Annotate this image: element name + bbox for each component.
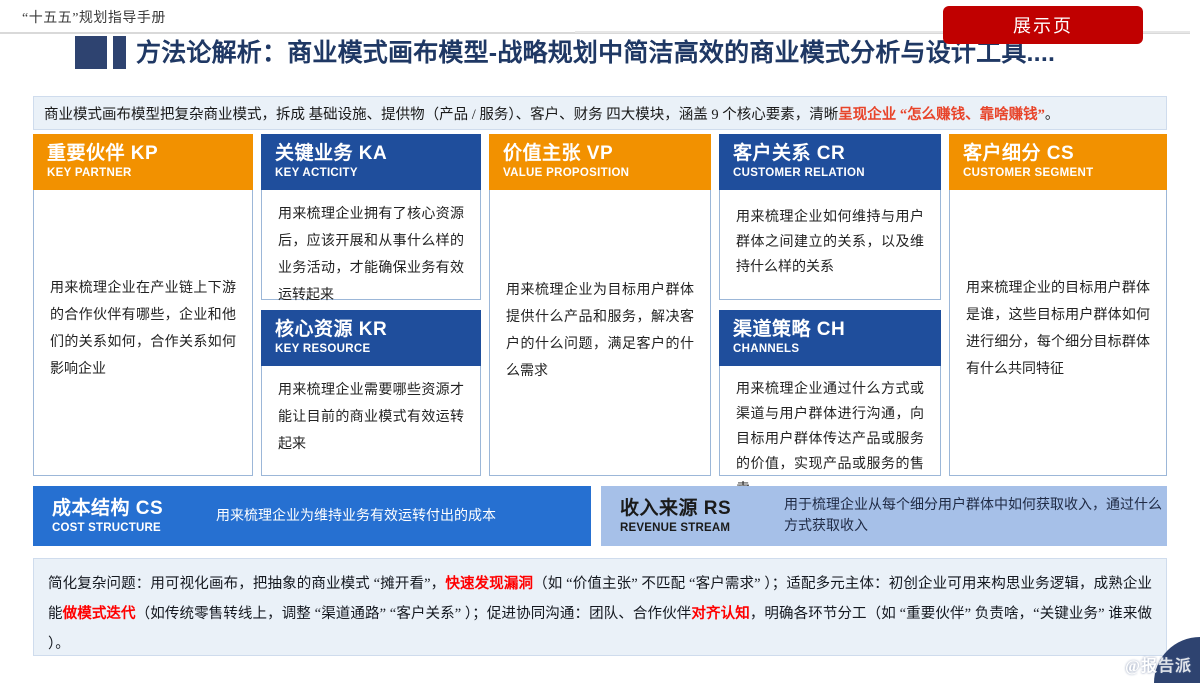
canvas-bar-revenue-stream[interactable]: 收入来源 RS REVENUE STREAM 用于梳理企业从每个细分用户群体中如… (601, 486, 1167, 546)
canvas-block-ka-body: 用来梳理企业拥有了核心资源后，应该开展和从事什么样的业务活动，才能确保业务有效运… (262, 201, 480, 309)
canvas-column-ka-kr: 关键业务 KA KEY ACTICITY 用来梳理企业拥有了核心资源后，应该开展… (261, 134, 481, 476)
summary-note-highlight-1: 快速发现漏洞 (445, 576, 533, 592)
canvas-bar-cost-structure-title: 成本结构 CS (52, 497, 202, 521)
canvas-block-ka-title: 关键业务 KA (275, 142, 481, 166)
canvas-block-ch-header: 渠道策略 CH CHANNELS (719, 310, 941, 366)
canvas-block-kr-body: 用来梳理企业需要哪些资源才能让目前的商业模式有效运转起来 (262, 377, 480, 458)
canvas-block-vp-header: 价值主张 VP VALUE PROPOSITION (489, 134, 711, 190)
canvas-block-kp-body: 用来梳理企业在产业链上下游的合作伙伴有哪些，企业和他们的关系如何，合作关系如何影… (34, 275, 252, 383)
canvas-block-cs-title: 客户细分 CS (963, 142, 1167, 166)
canvas-block-cs[interactable]: 客户细分 CS CUSTOMER SEGMENT 用来梳理企业的目标用户群体是谁… (949, 134, 1167, 476)
canvas-block-cr[interactable]: 客户关系 CR CUSTOMER RELATION 用来梳理企业如何维持与用户群… (719, 134, 941, 300)
canvas-bar-cost-structure-label: 成本结构 CS COST STRUCTURE (33, 497, 202, 536)
canvas-block-ch-body: 用来梳理企业通过什么方式或渠道与用户群体进行沟通，向目标用户群体传达产品或服务的… (720, 377, 940, 502)
title-marker-wide-icon (75, 36, 107, 69)
canvas-block-kr[interactable]: 核心资源 KR KEY RESOURCE 用来梳理企业需要哪些资源才能让目前的商… (261, 310, 481, 476)
canvas-column-kp: 重要伙伴 KP KEY PARTNER 用来梳理企业在产业链上下游的合作伙伴有哪… (33, 134, 253, 476)
canvas-block-cs-header: 客户细分 CS CUSTOMER SEGMENT (949, 134, 1167, 190)
intro-highlight: 呈现企业 “怎么赚钱、靠啥赚钱” (838, 103, 1045, 124)
summary-note-seg-1: 简化复杂问题：用可视化画布，把抽象的商业模式 “摊开看”， (48, 576, 445, 592)
canvas-block-kp-title: 重要伙伴 KP (47, 142, 253, 166)
summary-note: 简化复杂问题：用可视化画布，把抽象的商业模式 “摊开看”，快速发现漏洞（如 “价… (33, 558, 1167, 656)
canvas-block-cs-body: 用来梳理企业的目标用户群体是谁，这些目标用户群体如何进行细分，每个细分目标群体有… (950, 275, 1166, 383)
canvas-block-kr-subtitle: KEY RESOURCE (275, 342, 481, 357)
status-badge: 展示页 (943, 6, 1143, 44)
canvas-block-kr-header: 核心资源 KR KEY RESOURCE (261, 310, 481, 366)
canvas-block-kp-subtitle: KEY PARTNER (47, 166, 253, 181)
canvas-block-cs-subtitle: CUSTOMER SEGMENT (963, 166, 1167, 181)
canvas-block-ch-title: 渠道策略 CH (733, 318, 941, 342)
canvas-block-ka[interactable]: 关键业务 KA KEY ACTICITY 用来梳理企业拥有了核心资源后，应该开展… (261, 134, 481, 300)
canvas-block-cr-subtitle: CUSTOMER RELATION (733, 166, 941, 181)
summary-note-seg-3: （如传统零售转线上，调整 “渠道通路” “客户关系” ）；促进协同沟通：团队、合… (136, 606, 692, 622)
canvas-block-vp-title: 价值主张 VP (503, 142, 711, 166)
title-marker-narrow-icon (113, 36, 126, 69)
canvas-block-ka-header: 关键业务 KA KEY ACTICITY (261, 134, 481, 190)
canvas-bar-revenue-stream-title: 收入来源 RS (620, 497, 770, 521)
page-title: 方法论解析：商业模式画布模型-战略规划中简洁高效的商业模式分析与设计工具.... (136, 36, 1055, 70)
canvas-bar-cost-structure-subtitle: COST STRUCTURE (52, 521, 202, 536)
canvas-block-kp-header: 重要伙伴 KP KEY PARTNER (33, 134, 253, 190)
canvas-bar-revenue-stream-label: 收入来源 RS REVENUE STREAM (601, 497, 770, 536)
canvas-block-vp-subtitle: VALUE PROPOSITION (503, 166, 711, 181)
canvas-bottom-bars: 成本结构 CS COST STRUCTURE 用来梳理企业为维持业务有效运转付出… (33, 486, 1167, 546)
canvas-block-vp-body: 用来梳理企业为目标用户群体提供什么产品和服务，解决客户的什么问题，满足客户的什么… (490, 277, 710, 385)
summary-note-highlight-2: 做模式迭代 (63, 606, 136, 622)
canvas-block-ka-subtitle: KEY ACTICITY (275, 166, 481, 181)
watermark-label: @报告派 (1125, 652, 1192, 676)
canvas-bar-cost-structure[interactable]: 成本结构 CS COST STRUCTURE 用来梳理企业为维持业务有效运转付出… (33, 486, 591, 546)
canvas-column-vp: 价值主张 VP VALUE PROPOSITION 用来梳理企业为目标用户群体提… (489, 134, 711, 476)
canvas-block-kr-title: 核心资源 KR (275, 318, 481, 342)
canvas-block-ch[interactable]: 渠道策略 CH CHANNELS 用来梳理企业通过什么方式或渠道与用户群体进行沟… (719, 310, 941, 476)
canvas-bar-revenue-stream-subtitle: REVENUE STREAM (620, 521, 770, 536)
canvas-bar-revenue-stream-desc: 用于梳理企业从每个细分用户群体中如何获取收入，通过什么方式获取收入 (770, 495, 1167, 537)
canvas-block-kp[interactable]: 重要伙伴 KP KEY PARTNER 用来梳理企业在产业链上下游的合作伙伴有哪… (33, 134, 253, 476)
canvas-block-vp[interactable]: 价值主张 VP VALUE PROPOSITION 用来梳理企业为目标用户群体提… (489, 134, 711, 476)
intro-banner: 商业模式画布模型把复杂商业模式，拆成 基础设施、提供物（产品 / 服务）、客户、… (33, 96, 1167, 130)
status-badge-label: 展示页 (1013, 12, 1073, 38)
business-model-canvas: 重要伙伴 KP KEY PARTNER 用来梳理企业在产业链上下游的合作伙伴有哪… (33, 134, 1167, 476)
intro-text-after: 。 (1045, 103, 1060, 124)
canvas-block-cr-header: 客户关系 CR CUSTOMER RELATION (719, 134, 941, 190)
canvas-bar-cost-structure-desc: 用来梳理企业为维持业务有效运转付出的成本 (202, 506, 496, 527)
slide-root: “十五五”规划指导手册 方法论解析：商业模式画布模型-战略规划中简洁高效的商业模… (0, 0, 1200, 675)
intro-text-before: 商业模式画布模型把复杂商业模式，拆成 基础设施、提供物（产品 / 服务）、客户、… (44, 103, 838, 124)
canvas-block-cr-title: 客户关系 CR (733, 142, 941, 166)
canvas-block-cr-body: 用来梳理企业如何维持与用户群体之间建立的关系，以及维持什么样的关系 (720, 205, 940, 280)
canvas-column-cr-ch: 客户关系 CR CUSTOMER RELATION 用来梳理企业如何维持与用户群… (719, 134, 941, 476)
canvas-block-ch-subtitle: CHANNELS (733, 342, 941, 357)
canvas-column-cs: 客户细分 CS CUSTOMER SEGMENT 用来梳理企业的目标用户群体是谁… (949, 134, 1167, 476)
summary-note-highlight-3: 对齐认知 (691, 606, 749, 622)
handbook-kicker: “十五五”规划指导手册 (22, 7, 166, 27)
